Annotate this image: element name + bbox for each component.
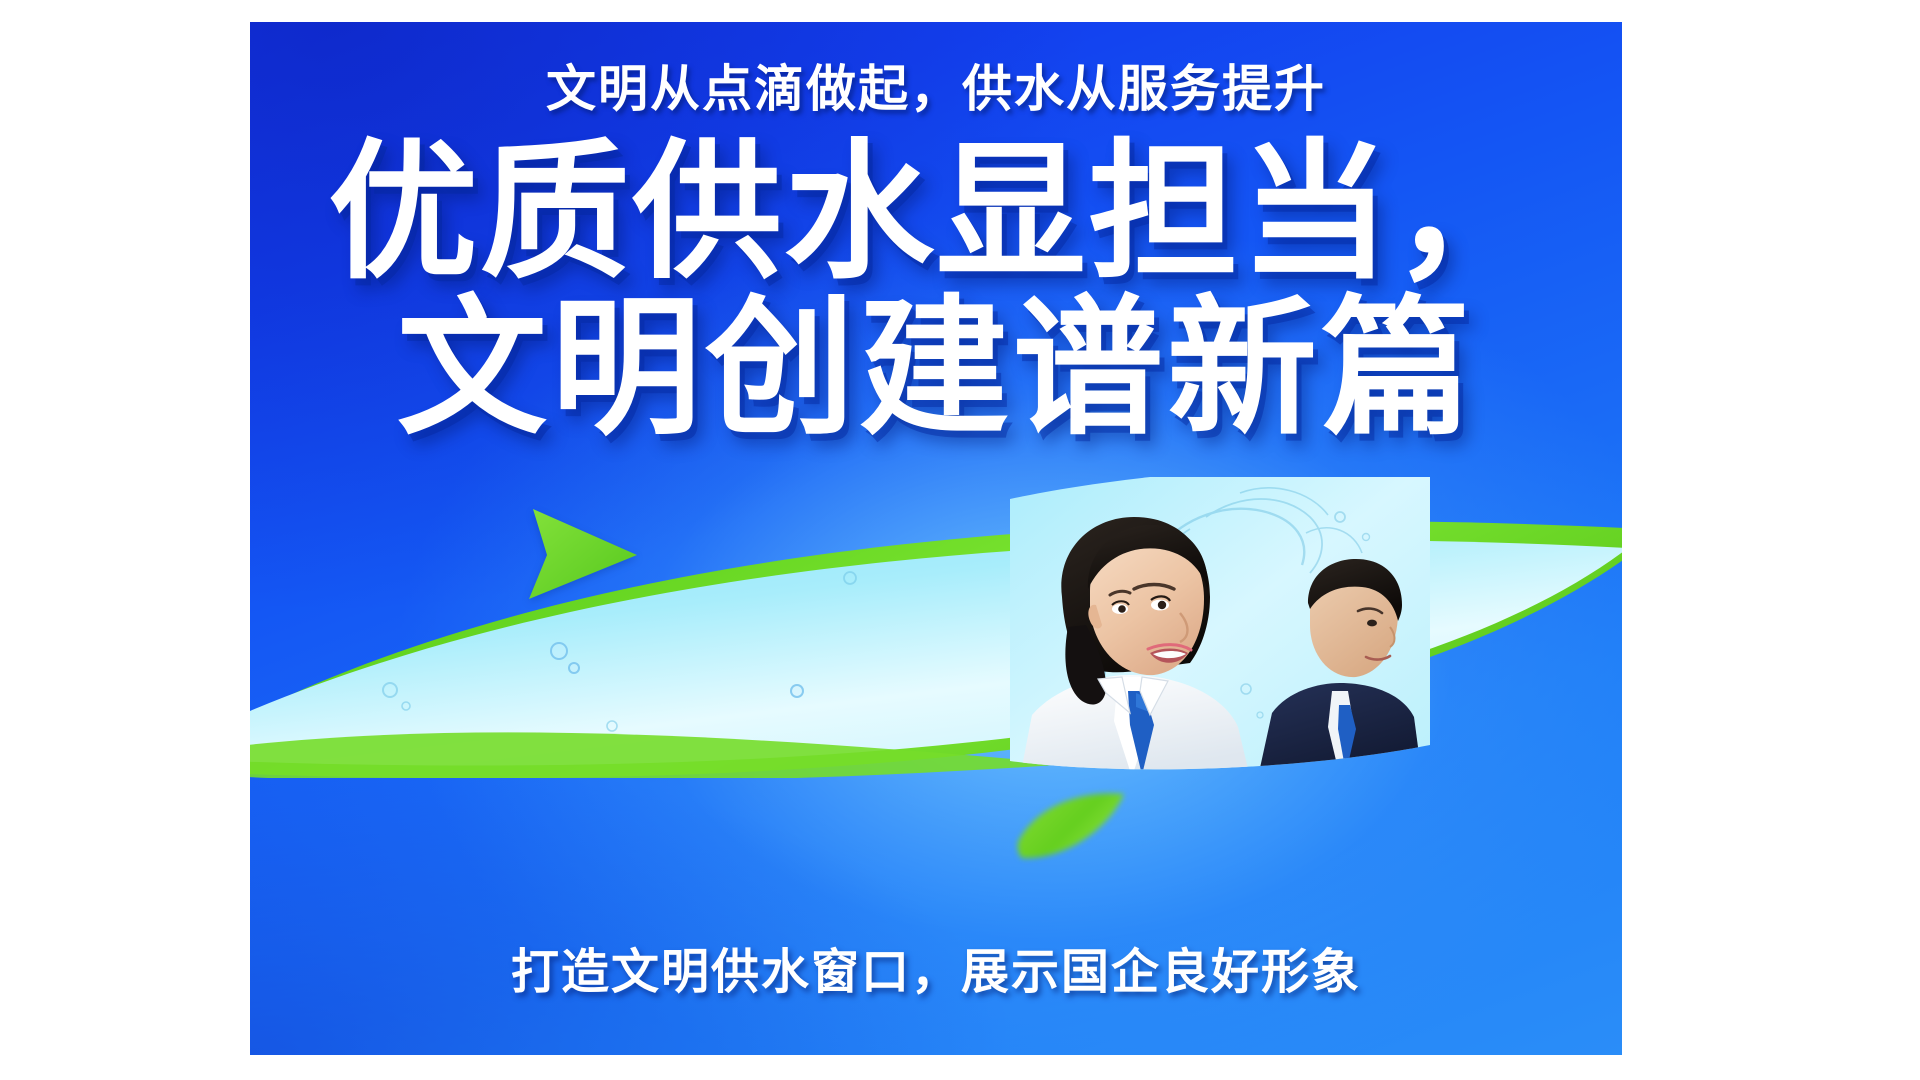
water-droplet-icon	[568, 662, 580, 674]
water-droplet-icon	[790, 684, 804, 698]
background-vignette-bottom-left	[250, 745, 1005, 1055]
chevron-arrow-right-icon	[525, 505, 641, 603]
leaf-icon-middle	[1012, 784, 1130, 868]
poster-headline: 优质供水显担当， 文明创建谱新篇	[250, 134, 1622, 446]
water-utility-civility-poster: 文明从点滴做起，供水从服务提升 优质供水显担当， 文明创建谱新篇 打造文明供水窗…	[250, 22, 1622, 1055]
screenshot-canvas: 文明从点滴做起，供水从服务提升 优质供水显担当， 文明创建谱新篇 打造文明供水窗…	[0, 0, 1920, 1080]
staff-photo	[1010, 477, 1430, 777]
staff-photo-illustration	[1010, 477, 1430, 777]
poster-subtitle-top: 文明从点滴做起，供水从服务提升	[250, 64, 1622, 114]
poster-headline-line-2: 文明创建谱新篇	[250, 290, 1622, 446]
water-droplet-icon	[550, 642, 568, 660]
poster-headline-line-1: 优质供水显担当，	[250, 134, 1622, 290]
poster-subtitle-bottom: 打造文明供水窗口，展示国企良好形象	[250, 949, 1622, 997]
